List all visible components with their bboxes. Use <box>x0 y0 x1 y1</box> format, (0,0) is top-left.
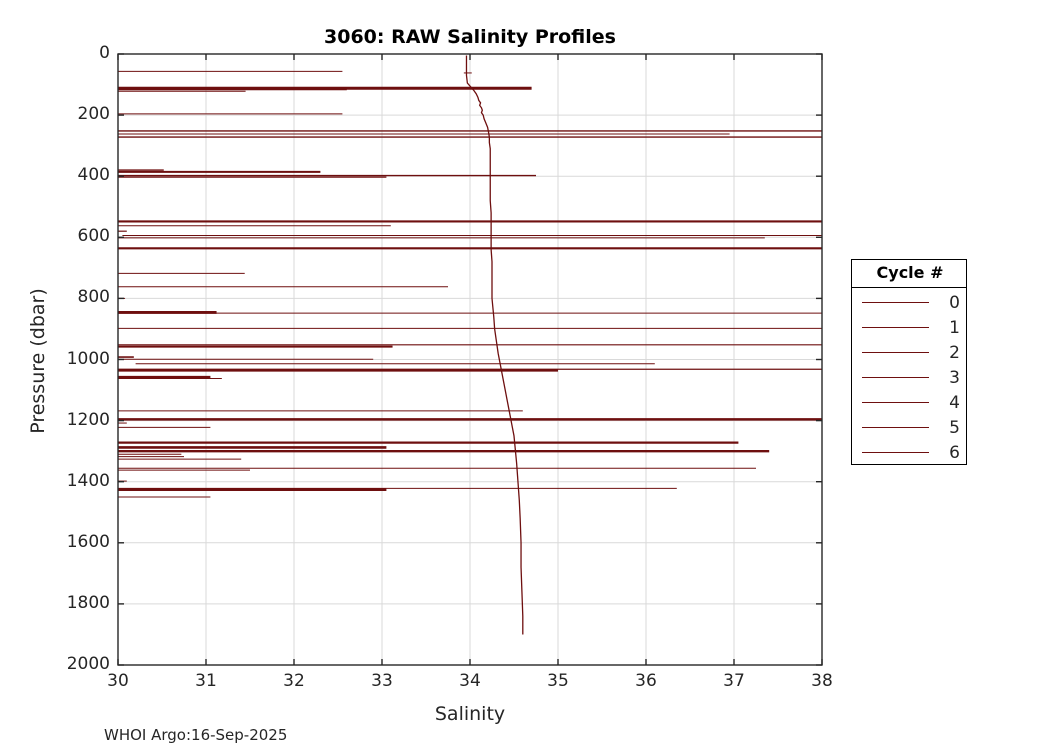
legend-item-label: 5 <box>949 418 960 438</box>
legend-item[interactable]: 2 <box>852 340 968 365</box>
legend-item[interactable]: 3 <box>852 365 968 390</box>
legend-line-swatch <box>862 427 929 428</box>
footer-credit: WHOI Argo:16-Sep-2025 <box>104 726 287 744</box>
legend-item-label: 6 <box>949 443 960 463</box>
x-tick-label: 32 <box>264 671 324 691</box>
y-tick-label: 1200 <box>40 410 110 430</box>
legend-item-label: 4 <box>949 393 960 413</box>
y-tick-label: 1600 <box>40 532 110 552</box>
legend-item-label: 0 <box>949 293 960 313</box>
y-tick-label: 200 <box>40 104 110 124</box>
x-tick-label: 35 <box>528 671 588 691</box>
x-axis-label: Salinity <box>118 703 822 725</box>
x-tick-label: 33 <box>352 671 412 691</box>
legend-item-label: 3 <box>949 368 960 388</box>
legend-item-label: 1 <box>949 318 960 338</box>
y-tick-label: 1800 <box>40 593 110 613</box>
x-tick-label: 38 <box>792 671 852 691</box>
x-tick-label: 36 <box>616 671 676 691</box>
legend-line-swatch <box>862 302 929 303</box>
y-tick-label: 600 <box>40 226 110 246</box>
legend-divider <box>852 287 966 288</box>
figure-canvas: 3060: RAW Salinity Profiles 303132333435… <box>0 0 1050 750</box>
x-tick-label: 34 <box>440 671 500 691</box>
y-tick-label: 1400 <box>40 471 110 491</box>
y-tick-label: 0 <box>40 43 110 63</box>
x-tick-label: 37 <box>704 671 764 691</box>
y-tick-label: 1000 <box>40 349 110 369</box>
legend-item[interactable]: 5 <box>852 415 968 440</box>
x-tick-label: 31 <box>176 671 236 691</box>
y-tick-label: 2000 <box>40 654 110 674</box>
legend-item[interactable]: 1 <box>852 315 968 340</box>
legend-line-swatch <box>862 327 929 328</box>
legend-item[interactable]: 4 <box>852 390 968 415</box>
legend-item[interactable]: 6 <box>852 440 968 465</box>
y-tick-label: 800 <box>40 287 110 307</box>
legend-item[interactable]: 0 <box>852 290 968 315</box>
x-tick-label: 30 <box>88 671 148 691</box>
legend-line-swatch <box>862 352 929 353</box>
legend-line-swatch <box>862 377 929 378</box>
legend-line-swatch <box>862 402 929 403</box>
legend-item-label: 2 <box>949 343 960 363</box>
legend-line-swatch <box>862 452 929 453</box>
y-axis-label: Pressure (dbar) <box>27 261 49 461</box>
legend: Cycle # 0123456 <box>851 259 967 465</box>
legend-title: Cycle # <box>852 263 968 282</box>
y-tick-label: 400 <box>40 165 110 185</box>
